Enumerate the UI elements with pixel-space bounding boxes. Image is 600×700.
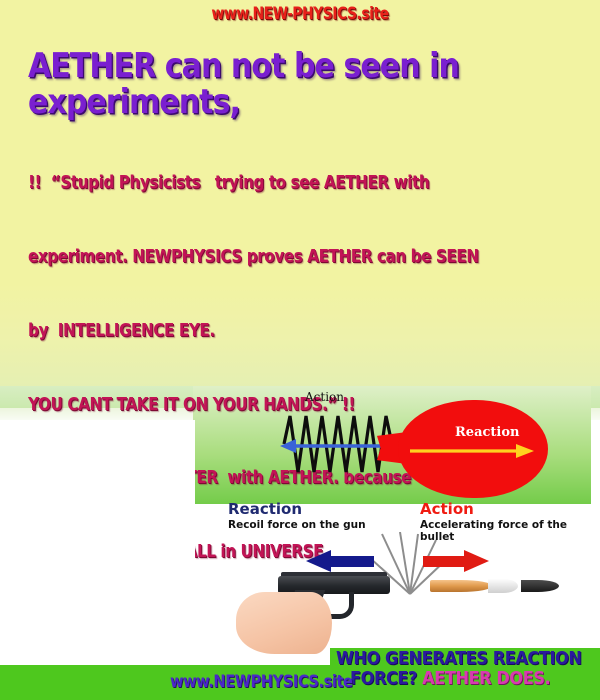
balloon-reaction-arrow-icon <box>410 442 536 460</box>
bottom-question-force: FORCE? <box>350 668 417 689</box>
page-title-line1: AETHER can not be seen in experiments, <box>28 48 521 120</box>
gun-reaction-subtitle: Recoil force on the gun <box>228 519 366 531</box>
body-line: by INTELLIGENCE EYE. <box>28 319 522 344</box>
recoil-arrow-shaft <box>330 556 374 567</box>
recoil-arrowhead-icon <box>306 550 331 572</box>
bullet-midflight-shape <box>488 579 518 593</box>
footer-site-url[interactable]: www.NEWPHYSICS.site <box>170 672 353 692</box>
bullet-arrow-shaft <box>423 556 465 567</box>
balloon-action-label: Action <box>305 390 344 404</box>
poster-root: www.NEW-PHYSICS.site AETHER can not be s… <box>0 0 600 700</box>
bottom-question-line1: WHO GENERATES REACTION <box>336 648 581 669</box>
page-title: AETHER can not be seen in experiments, <box>28 48 521 120</box>
top-site-url[interactable]: www.NEW-PHYSICS.site <box>54 4 546 24</box>
bullet-arrowhead-icon <box>464 550 489 572</box>
bottom-question-line2: FORCE? AETHER DOES. <box>350 668 550 689</box>
gun-action-title: Action <box>420 500 474 518</box>
gun-reaction-title: Reaction <box>228 500 302 518</box>
bottom-question-answer: AETHER DOES. <box>417 668 550 689</box>
basketball-diagram: Reaction Action <box>0 420 195 670</box>
hand-holding-gun-shape <box>236 592 332 654</box>
body-line: experiment. NEWPHYSICS proves AETHER can… <box>28 245 522 270</box>
balloon-reaction-label: Reaction <box>455 425 519 440</box>
body-line: !! “Stupid Physicists trying to see AETH… <box>28 171 522 196</box>
bullet-casing-shape <box>430 580 492 592</box>
